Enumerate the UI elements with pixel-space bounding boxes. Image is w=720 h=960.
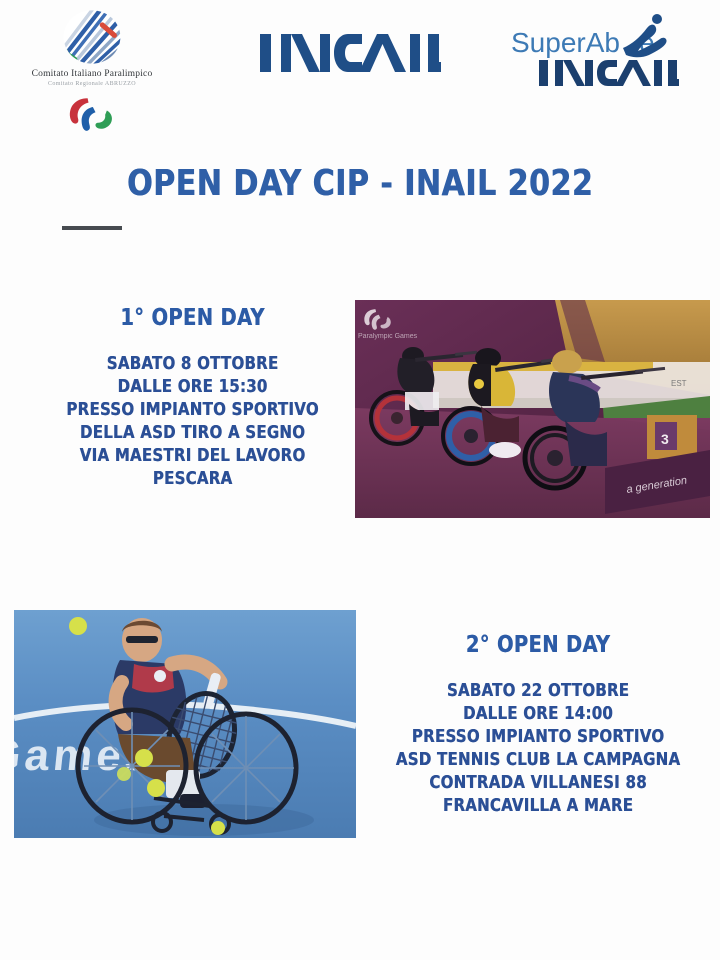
- cip-logo-subtitle: Comitato Regionale ABRUZZO: [12, 81, 172, 87]
- event-2-line-3: PRESSO IMPIANTO SPORTIVO: [390, 726, 686, 749]
- event-2-line-2: DALLE ORE 14:00: [390, 703, 686, 726]
- superabile-inail-logo: SuperAb e: [505, 12, 685, 90]
- title-underline-rule: [62, 226, 122, 230]
- cip-logo-name: Comitato Italiano Paralimpico: [12, 69, 172, 79]
- svg-text:Paralympic Games: Paralympic Games: [358, 333, 418, 340]
- event-2-line-5: CONTRADA VILLANESI 88: [390, 772, 686, 795]
- photo-wheelchair-tennis: Games: [14, 610, 356, 838]
- cip-logo: Comitato Italiano Paralimpico Comitato R…: [12, 6, 172, 135]
- event-2-text-block: 2° OPEN DAY SABATO 22 OTTOBRE DALLE ORE …: [382, 632, 694, 818]
- event-2-line-4: ASD TENNIS CLUB LA CAMPAGNA: [390, 749, 686, 772]
- event-1-text-block: 1° OPEN DAY SABATO 8 OTTOBRE DALLE ORE 1…: [50, 305, 335, 491]
- paralympic-agitos-icon: [61, 93, 123, 135]
- event-1-line-1: SABATO 8 OTTOBRE: [57, 353, 328, 376]
- event-1-line-6: PESCARA: [57, 468, 328, 491]
- header-logos: Comitato Italiano Paralimpico Comitato R…: [0, 0, 720, 160]
- event-1-line-3: PRESSO IMPIANTO SPORTIVO: [57, 399, 328, 422]
- event-1-details: SABATO 8 OTTOBRE DALLE ORE 15:30 PRESSO …: [57, 353, 328, 491]
- page-title: OPEN DAY CIP - INAIL 2022: [25, 163, 695, 204]
- event-2-heading: 2° OPEN DAY: [391, 632, 684, 658]
- event-2-line-1: SABATO 22 OTTOBRE: [390, 680, 686, 703]
- event-1-line-2: DALLE ORE 15:30: [57, 376, 328, 399]
- cip-sphere-icon: [49, 6, 135, 68]
- inail-wordmark-logo: [258, 30, 443, 76]
- svg-text:EST: EST: [671, 379, 687, 388]
- event-2-line-6: FRANCAVILLA A MARE: [390, 795, 686, 818]
- photo-paralympic-shooting-image: Paralympic Games: [355, 300, 710, 518]
- photo-paralympic-shooting: Paralympic Games: [355, 300, 710, 518]
- photo-wheelchair-tennis-image: Games: [14, 610, 356, 838]
- svg-text:3: 3: [661, 431, 669, 447]
- poster: Comitato Italiano Paralimpico Comitato R…: [0, 0, 720, 960]
- svg-text:SuperAb: SuperAb: [511, 27, 620, 58]
- event-1-heading: 1° OPEN DAY: [59, 305, 327, 331]
- event-1-line-4: DELLA ASD TIRO A SEGNO: [57, 422, 328, 445]
- event-2-details: SABATO 22 OTTOBRE DALLE ORE 14:00 PRESSO…: [390, 680, 686, 818]
- event-1-line-5: VIA MAESTRI DEL LAVORO: [57, 445, 328, 468]
